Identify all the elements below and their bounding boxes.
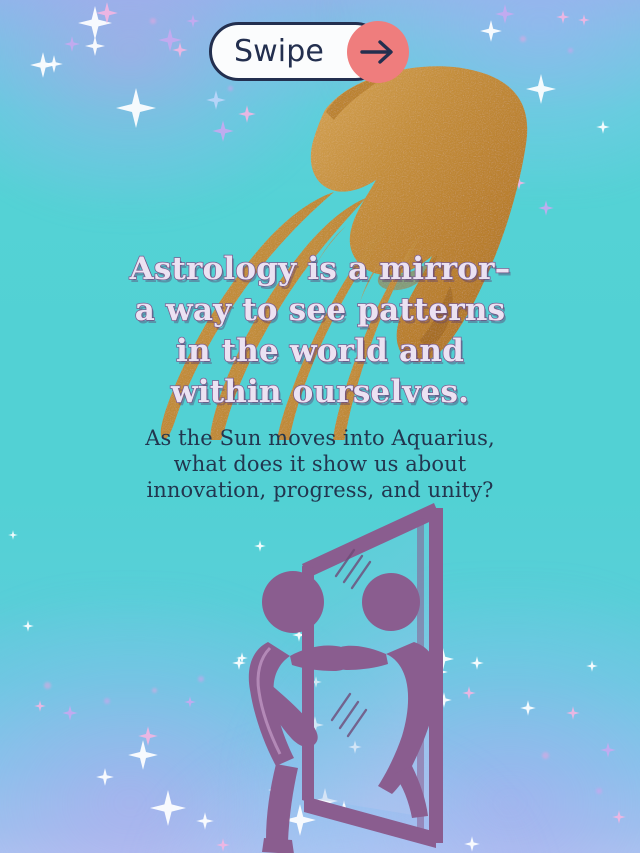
headline-line: Astrology is a mirror– [0,249,640,290]
swipe-control[interactable]: Swipe [209,22,385,81]
subtitle-line: what does it show us about [0,451,640,477]
headline-line: a way to see patterns [0,290,640,331]
swipe-next-button[interactable] [347,21,409,83]
arrow-right-icon [360,39,396,65]
subtitle-line: innovation, progress, and unity? [0,477,640,503]
headline-line: in the world and [0,331,640,372]
person-at-mirror-icon [236,498,466,853]
subtitle-line: As the Sun moves into Aquarius, [0,425,640,451]
social-card: Astrology is a mirror– a way to see patt… [0,0,640,853]
headline-line: within ourselves. [0,372,640,413]
swipe-label: Swipe [234,37,324,67]
subtitle: As the Sun moves into Aquarius, what doe… [0,425,640,503]
headline: Astrology is a mirror– a way to see patt… [0,249,640,413]
